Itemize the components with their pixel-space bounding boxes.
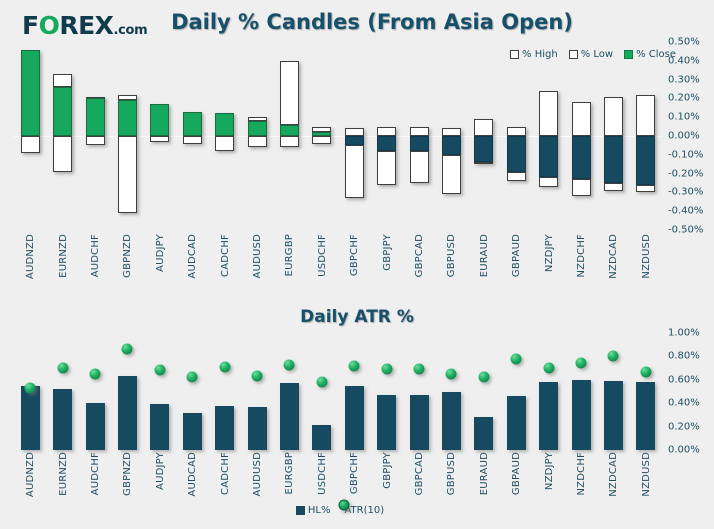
candle-low-segment [150,136,169,142]
candle-close-segment [442,136,461,155]
candle-low-segment [474,162,493,164]
atr-marker-audnzd[interactable] [25,382,36,393]
candle-audchf[interactable] [86,42,105,230]
candle-high-segment [636,95,655,136]
candle-low-segment [248,136,267,147]
atr-x-label-audcad: AUDCAD [187,452,198,497]
atr-x-axis: AUDNZDEURNZDAUDCHFGBPNZDAUDJPYAUDCADCADC… [14,452,662,504]
atr-bar-nzdchf[interactable] [572,380,591,450]
atr-x-label-gbpcad: GBPCAD [414,452,425,495]
candle-close-segment [53,87,72,136]
atr-bar-gbpchf[interactable] [345,386,364,450]
candle-low-segment [118,136,137,213]
atr-legend-label-0: HL% [308,505,331,516]
candles-y-tick-3: 0.20% [668,93,700,104]
atr-marker-gbpjpy[interactable] [381,364,392,375]
candle-low-segment [572,179,591,196]
atr-y-tick-4: 0.20% [668,421,700,432]
candles-y-tick-7: -0.20% [668,168,703,179]
candles-x-label-gbpusd: GBPUSD [446,234,457,277]
atr-marker-gbpnzd[interactable] [122,344,133,355]
candles-y-tick-9: -0.40% [668,206,703,217]
candle-low-segment [345,145,364,198]
atr-bar-audchf[interactable] [86,403,105,450]
atr-marker-audcad[interactable] [187,372,198,383]
atr-x-label-nzdusd: NZDUSD [641,452,652,497]
page-title: Daily % Candles (From Asia Open) [0,10,714,34]
atr-x-label-gbpnzd: GBPNZD [122,452,133,496]
candles-y-tick-1: 0.40% [668,55,700,66]
candle-low-segment [410,151,429,183]
candles-y-axis: 0.50%0.40%0.30%0.20%0.10%0.00%-0.10%-0.2… [668,42,714,230]
candle-low-segment [53,136,72,172]
candles-x-label-cadchf: CADCHF [220,234,231,277]
candle-high-segment [539,91,558,136]
candles-y-tick-10: -0.50% [668,225,703,236]
candle-high-segment [410,127,429,136]
atr-bar-gbpusd[interactable] [442,392,461,451]
atr-plot-area [14,333,662,450]
candle-low-segment [507,172,526,181]
candles-x-label-audjpy: AUDJPY [155,234,166,272]
candles-plot-area [14,42,662,230]
atr-bar-gbpaud[interactable] [507,396,526,450]
atr-x-label-nzdjpy: NZDJPY [544,452,555,490]
candle-high-segment [474,119,493,136]
candles-y-tick-5: 0.00% [668,131,700,142]
candle-low-segment [636,185,655,193]
candles-y-tick-8: -0.30% [668,187,703,198]
candle-close-segment [636,136,655,185]
candle-close-segment [183,112,202,136]
candle-close-segment [410,136,429,151]
atr-legend-item-1[interactable]: ATR(10) [344,505,384,516]
atr-legend: HL%ATR(10) [0,505,714,516]
candle-low-segment [21,136,40,153]
candle-high-segment [53,74,72,87]
candle-gbpchf[interactable] [345,42,364,230]
atr-bar-audcad[interactable] [183,413,202,450]
candles-x-label-eurgbp: EURGBP [284,234,295,276]
candles-y-tick-0: 0.50% [668,37,700,48]
candle-euraud[interactable] [474,42,493,230]
candle-eurgbp[interactable] [280,42,299,230]
atr-marker-gbpusd[interactable] [446,368,457,379]
atr-x-label-eurgbp: EURGBP [284,452,295,494]
atr-x-label-gbpjpy: GBPJPY [382,452,393,489]
candle-high-segment [507,127,526,136]
candles-x-label-audnzd: AUDNZD [25,234,36,279]
candle-low-segment [377,151,396,185]
atr-bar-nzdjpy[interactable] [539,382,558,450]
candle-audusd[interactable] [248,42,267,230]
atr-bar-audusd[interactable] [248,407,267,450]
candle-audnzd[interactable] [21,42,40,230]
atr-legend-item-0[interactable]: HL% [296,505,331,516]
candles-x-label-nzdchf: NZDCHF [576,234,587,278]
candle-eurnzd[interactable] [53,42,72,230]
candles-x-label-nzdusd: NZDUSD [641,234,652,279]
atr-y-axis: 1.00%0.80%0.60%0.40%0.20%0.00% [668,333,714,450]
candle-close-segment [150,104,169,136]
candles-x-axis: AUDNZDEURNZDAUDCHFGBPNZDAUDJPYAUDCADCADC… [14,234,662,296]
candles-x-label-usdchf: USDCHF [317,234,328,277]
atr-bar-gbpcad[interactable] [410,395,429,450]
atr-chart-title: Daily ATR % [0,307,714,327]
candles-x-label-nzdcad: NZDCAD [608,234,619,279]
candle-audcad[interactable] [183,42,202,230]
candle-gbpusd[interactable] [442,42,461,230]
atr-x-label-euraud: EURAUD [479,452,490,495]
candle-close-segment [474,136,493,162]
candle-high-segment [442,128,461,136]
candles-y-tick-6: -0.10% [668,149,703,160]
candle-low-segment [86,136,105,145]
atr-marker-gbpchf[interactable] [349,360,360,371]
atr-marker-eurnzd[interactable] [57,363,68,374]
atr-marker-nzdusd[interactable] [640,366,651,377]
atr-y-tick-3: 0.40% [668,398,700,409]
candles-x-label-audchf: AUDCHF [90,234,101,277]
candle-low-segment [604,183,623,191]
atr-marker-audjpy[interactable] [154,365,165,376]
atr-bar-gbpjpy[interactable] [377,395,396,450]
candle-low-segment [280,136,299,147]
candle-nzdcad[interactable] [604,42,623,230]
candles-x-label-gbpaud: GBPAUD [511,234,522,277]
candle-close-segment [604,136,623,183]
atr-legend-label-1: ATR(10) [344,505,384,516]
atr-y-tick-2: 0.60% [668,374,700,385]
atr-x-label-audchf: AUDCHF [90,452,101,495]
atr-x-label-gbpchf: GBPCHF [349,452,360,494]
candles-x-label-gbpchf: GBPCHF [349,234,360,276]
candle-cadchf[interactable] [215,42,234,230]
atr-bar-eurgbp[interactable] [280,383,299,450]
atr-bar-usdchf[interactable] [312,425,331,450]
atr-marker-gbpcad[interactable] [414,364,425,375]
candle-close-segment [118,100,137,136]
atr-bar-nzdusd[interactable] [636,382,655,450]
atr-marker-nzdjpy[interactable] [543,363,554,374]
atr-bar-audjpy[interactable] [150,404,169,450]
candles-x-label-audusd: AUDUSD [252,234,263,278]
atr-x-label-nzdchf: NZDCHF [576,452,587,496]
atr-x-label-audnzd: AUDNZD [25,452,36,497]
candle-low-segment [442,155,461,194]
atr-x-label-nzdcad: NZDCAD [608,452,619,497]
candle-close-segment [280,125,299,136]
atr-bar-cadchf[interactable] [215,406,234,450]
atr-x-label-audjpy: AUDJPY [155,452,166,490]
candle-high-segment [604,97,623,136]
atr-bar-euraud[interactable] [474,417,493,450]
candle-close-segment [377,136,396,151]
atr-bar-nzdcad[interactable] [604,381,623,450]
atr-y-tick-0: 1.00% [668,328,700,339]
atr-x-label-gbpaud: GBPAUD [511,452,522,495]
atr-y-tick-5: 0.00% [668,445,700,456]
candle-nzdusd[interactable] [636,42,655,230]
atr-legend-swatch-icon-0 [296,506,305,515]
candle-high-segment [572,102,591,136]
candle-close-segment [248,121,267,136]
candles-x-label-euraud: EURAUD [479,234,490,277]
candles-x-label-audcad: AUDCAD [187,234,198,279]
atr-x-label-audusd: AUDUSD [252,452,263,496]
atr-marker-audchf[interactable] [90,368,101,379]
candle-nzdchf[interactable] [572,42,591,230]
atr-y-tick-1: 0.80% [668,351,700,362]
candle-close-segment [21,50,40,136]
candles-x-label-gbpcad: GBPCAD [414,234,425,277]
chart-page: FOREX.com Daily % Candles (From Asia Ope… [0,0,714,529]
atr-x-label-gbpusd: GBPUSD [446,452,457,495]
candles-x-label-gbpnzd: GBPNZD [122,234,133,278]
atr-marker-euraud[interactable] [478,372,489,383]
atr-marker-cadchf[interactable] [219,361,230,372]
atr-marker-usdchf[interactable] [316,377,327,388]
candle-low-segment [215,136,234,151]
atr-marker-nzdchf[interactable] [576,358,587,369]
candle-usdchf[interactable] [312,42,331,230]
atr-x-label-eurnzd: EURNZD [58,452,69,496]
candle-gbpjpy[interactable] [377,42,396,230]
candle-close-segment [539,136,558,177]
candle-low-segment [183,136,202,144]
atr-marker-audusd[interactable] [252,371,263,382]
candles-x-label-gbpjpy: GBPJPY [382,234,393,271]
candle-gbpnzd[interactable] [118,42,137,230]
candle-close-segment [345,136,364,145]
atr-x-label-usdchf: USDCHF [317,452,328,495]
candle-gbpaud[interactable] [507,42,526,230]
candle-low-segment [312,136,331,144]
atr-legend-swatch-icon-1 [339,500,350,511]
candles-y-tick-4: 0.10% [668,112,700,123]
candles-y-tick-2: 0.30% [668,74,700,85]
candle-low-segment [539,177,558,186]
candle-high-segment [377,127,396,136]
candle-close-segment [572,136,591,179]
atr-bar-gbpnzd[interactable] [118,376,137,450]
candle-gbpcad[interactable] [410,42,429,230]
candle-high-segment [280,61,299,125]
candle-nzdjpy[interactable] [539,42,558,230]
atr-marker-gbpaud[interactable] [511,353,522,364]
candle-close-segment [507,136,526,172]
candle-audjpy[interactable] [150,42,169,230]
candle-close-segment [86,98,105,136]
candles-x-label-eurnzd: EURNZD [58,234,69,278]
atr-bar-audnzd[interactable] [21,386,40,450]
candle-high-segment [345,128,364,136]
atr-marker-eurgbp[interactable] [284,359,295,370]
candles-x-label-nzdjpy: NZDJPY [544,234,555,272]
candle-close-segment [215,113,234,136]
atr-marker-nzdcad[interactable] [608,351,619,362]
zero-gridline [14,136,662,137]
atr-bar-eurnzd[interactable] [53,389,72,450]
atr-x-label-cadchf: CADCHF [220,452,231,495]
